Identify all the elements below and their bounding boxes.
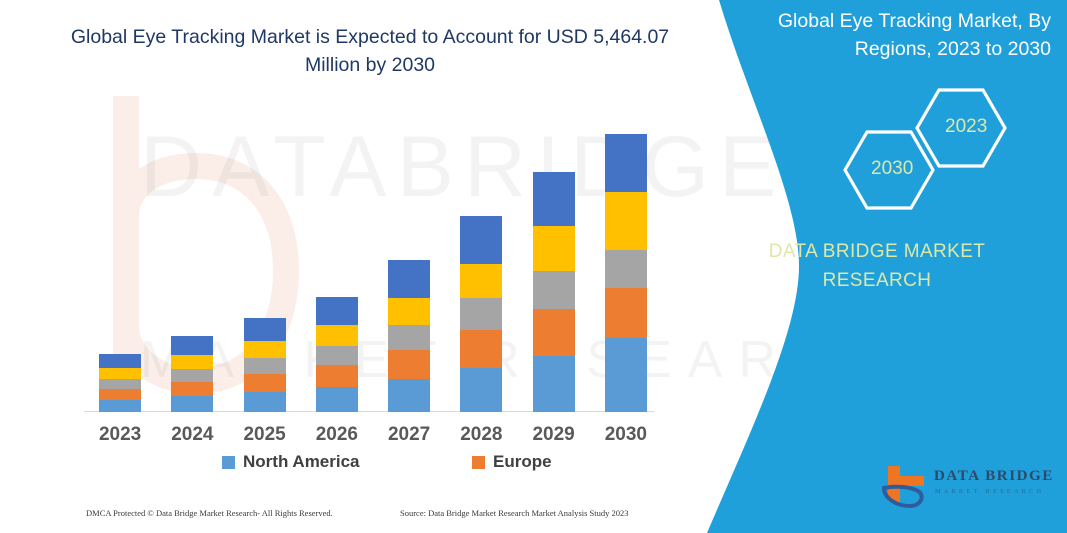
bar-segment-2023-0	[99, 400, 141, 412]
hex-label-2023: 2023	[945, 116, 987, 138]
infographic-canvas: DATABRIDGE MARKET RESEARCH Global Eye Tr…	[0, 0, 1067, 533]
bar-segment-2024-3	[171, 355, 213, 369]
bar-2024	[171, 336, 213, 412]
bar-segment-2029-3	[533, 226, 575, 271]
bar-2029	[533, 172, 575, 412]
bar-segment-2028-0	[460, 368, 502, 412]
bar-segment-2026-4	[316, 297, 358, 325]
legend-item-north-america[interactable]: North America	[222, 452, 360, 472]
bar-segment-2030-2	[605, 250, 647, 288]
bar-2030	[605, 134, 647, 412]
bar-segment-2030-4	[605, 134, 647, 192]
hexagon-badges: 2023 2030	[687, 80, 1067, 230]
bar-segment-2024-0	[171, 396, 213, 412]
bar-segment-2029-2	[533, 271, 575, 309]
bar-2028	[460, 216, 502, 412]
x-label-2030: 2030	[596, 424, 656, 446]
bar-segment-2027-4	[388, 260, 430, 298]
x-label-2028: 2028	[451, 424, 511, 446]
bar-segment-2026-1	[316, 365, 358, 387]
bar-segment-2028-3	[460, 264, 502, 298]
data-bridge-logo: DATA BRIDGE MARKET RESEARCH	[878, 462, 1058, 510]
x-label-2026: 2026	[307, 424, 367, 446]
x-label-2024: 2024	[162, 424, 222, 446]
bar-segment-2025-4	[244, 318, 286, 341]
bar-segment-2026-3	[316, 325, 358, 346]
bar-segment-2025-3	[244, 341, 286, 358]
bar-segment-2026-2	[316, 346, 358, 365]
bar-segment-2028-4	[460, 216, 502, 264]
bar-segment-2024-2	[171, 369, 213, 382]
hex-label-2030: 2030	[871, 158, 913, 180]
bar-2023	[99, 354, 141, 412]
bar-segment-2030-3	[605, 192, 647, 250]
bar-segment-2029-4	[533, 172, 575, 226]
legend-swatch-icon	[472, 456, 485, 469]
chart-legend: North AmericaEurope	[84, 452, 662, 482]
bar-segment-2030-1	[605, 288, 647, 338]
x-label-2023: 2023	[90, 424, 150, 446]
bar-segment-2024-4	[171, 336, 213, 355]
x-axis-labels: 20232024202520262027202820292030	[84, 424, 662, 454]
bar-segment-2028-2	[460, 298, 502, 330]
bar-segment-2025-1	[244, 374, 286, 392]
x-label-2027: 2027	[379, 424, 439, 446]
panel-brand-line1: DATA BRIDGE MARKET	[687, 238, 1067, 267]
legend-item-europe[interactable]: Europe	[472, 452, 552, 472]
bar-segment-2027-3	[388, 298, 430, 325]
panel-title: Global Eye Tracking Market, By Regions, …	[709, 8, 1051, 63]
right-brand-panel: Global Eye Tracking Market, By Regions, …	[687, 0, 1067, 533]
bar-segment-2029-0	[533, 356, 575, 412]
footer-source-note: Source: Data Bridge Market Research Mark…	[400, 508, 629, 518]
x-label-2029: 2029	[524, 424, 584, 446]
bar-2026	[316, 297, 358, 412]
logo-title: DATA BRIDGE	[934, 468, 1054, 485]
logo-tagline: MARKET RESEARCH	[935, 488, 1044, 495]
bar-segment-2028-1	[460, 330, 502, 368]
x-label-2025: 2025	[235, 424, 295, 446]
bar-segment-2030-0	[605, 338, 647, 412]
stacked-bar-plot	[84, 100, 662, 412]
bar-segment-2025-0	[244, 392, 286, 412]
logo-mark-icon	[878, 462, 934, 510]
footer-dmca-notice: DMCA Protected © Data Bridge Market Rese…	[86, 508, 333, 518]
bar-2025	[244, 318, 286, 412]
bar-segment-2029-1	[533, 309, 575, 356]
bar-segment-2027-0	[388, 379, 430, 412]
bar-segment-2025-2	[244, 358, 286, 374]
legend-swatch-icon	[222, 456, 235, 469]
bar-segment-2026-0	[316, 387, 358, 412]
bar-segment-2027-1	[388, 350, 430, 379]
bar-segment-2023-3	[99, 368, 141, 379]
bar-2027	[388, 260, 430, 412]
panel-brand-name: DATA BRIDGE MARKET RESEARCH	[687, 238, 1067, 295]
bar-segment-2024-1	[171, 382, 213, 396]
chart-title: Global Eye Tracking Market is Expected t…	[60, 24, 680, 79]
panel-brand-line2: RESEARCH	[687, 267, 1067, 296]
bar-segment-2023-2	[99, 379, 141, 389]
bar-segment-2023-1	[99, 389, 141, 400]
bar-segment-2023-4	[99, 354, 141, 368]
bar-segment-2027-2	[388, 325, 430, 350]
legend-label: Europe	[493, 452, 552, 472]
legend-label: North America	[243, 452, 360, 472]
